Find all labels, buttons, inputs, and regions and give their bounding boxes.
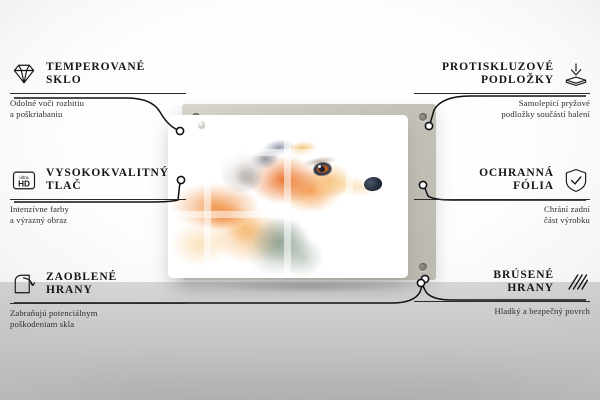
feature-rounded-edges: ZAOBLENÉ HRANY Zabraňujú potenciálnym po… <box>10 270 186 329</box>
feature-header: OCHRANNÁ FÓLIA <box>414 166 590 194</box>
glass-panel <box>168 115 408 278</box>
feature-desc-line1: Intenzívne farby <box>10 204 186 215</box>
divider <box>10 303 186 304</box>
feature-title: TEMPEROVANÉ SKLO <box>46 61 145 88</box>
product-image <box>168 104 436 284</box>
feature-polished-edges: BRÚSENÉ HRANY Hladký a bezpečný povrch <box>414 268 590 317</box>
rounded-corner-icon <box>10 270 38 298</box>
ultra-hd-icon: ultra HD <box>10 166 38 194</box>
divider <box>10 93 186 94</box>
feature-header: PROTISKLUZOVÉ PODLOŽKY <box>414 60 590 88</box>
shield-check-icon <box>562 166 590 194</box>
feature-desc-line2: a poškriabaniu <box>10 109 186 120</box>
feature-header: BRÚSENÉ HRANY <box>414 268 590 296</box>
feature-header: TEMPEROVANÉ SKLO <box>10 60 186 88</box>
feature-desc-line1: Zabraňujú potenciálnym <box>10 308 186 319</box>
divider <box>10 199 186 200</box>
feature-title: PROTISKLUZOVÉ PODLOŽKY <box>442 61 554 88</box>
feature-desc-line2: poškodeniam skla <box>10 319 186 330</box>
divider <box>414 301 590 302</box>
glass-standoff <box>198 121 205 128</box>
glass-sparkle <box>222 129 248 155</box>
divider <box>414 199 590 200</box>
feature-desc-line1: Odolné voči rozbitiu <box>10 98 186 109</box>
pad-arrow-icon <box>562 60 590 88</box>
glass-sheen <box>168 115 408 278</box>
feature-title: ZAOBLENÉ HRANY <box>46 271 117 298</box>
feature-title: OCHRANNÁ FÓLIA <box>479 167 554 194</box>
feature-desc-line1: Samolepicí pryžové <box>414 98 590 109</box>
hatched-edge-icon <box>562 268 590 296</box>
svg-text:HD: HD <box>18 179 30 188</box>
feature-header: ultra HD VYSOKOKVALITNÝ TLAČ <box>10 166 186 194</box>
infographic-canvas: TEMPEROVANÉ SKLO Odolné voči rozbitiu a … <box>0 0 600 400</box>
feature-desc-line1: Hladký a bezpečný povrch <box>414 306 590 317</box>
feature-header: ZAOBLENÉ HRANY <box>10 270 186 298</box>
feature-tempered-glass: TEMPEROVANÉ SKLO Odolné voči rozbitiu a … <box>10 60 186 119</box>
feature-protective-foil: OCHRANNÁ FÓLIA Chrání zadní část výrobku <box>414 166 590 225</box>
feature-high-quality-print: ultra HD VYSOKOKVALITNÝ TLAČ Intenzívne … <box>10 166 186 225</box>
feature-anti-slip-pads: PROTISKLUZOVÉ PODLOŽKY Samolepicí pryžov… <box>414 60 590 119</box>
feature-title: VYSOKOKVALITNÝ TLAČ <box>46 167 169 194</box>
feature-desc-line1: Chrání zadní <box>414 204 590 215</box>
diamond-icon <box>10 60 38 88</box>
divider <box>414 93 590 94</box>
feature-title: BRÚSENÉ HRANY <box>493 269 554 296</box>
feature-desc-line2: podložky součástí balení <box>414 109 590 120</box>
feature-desc-line2: část výrobku <box>414 215 590 226</box>
feature-desc-line2: a výrazný obraz <box>10 215 186 226</box>
